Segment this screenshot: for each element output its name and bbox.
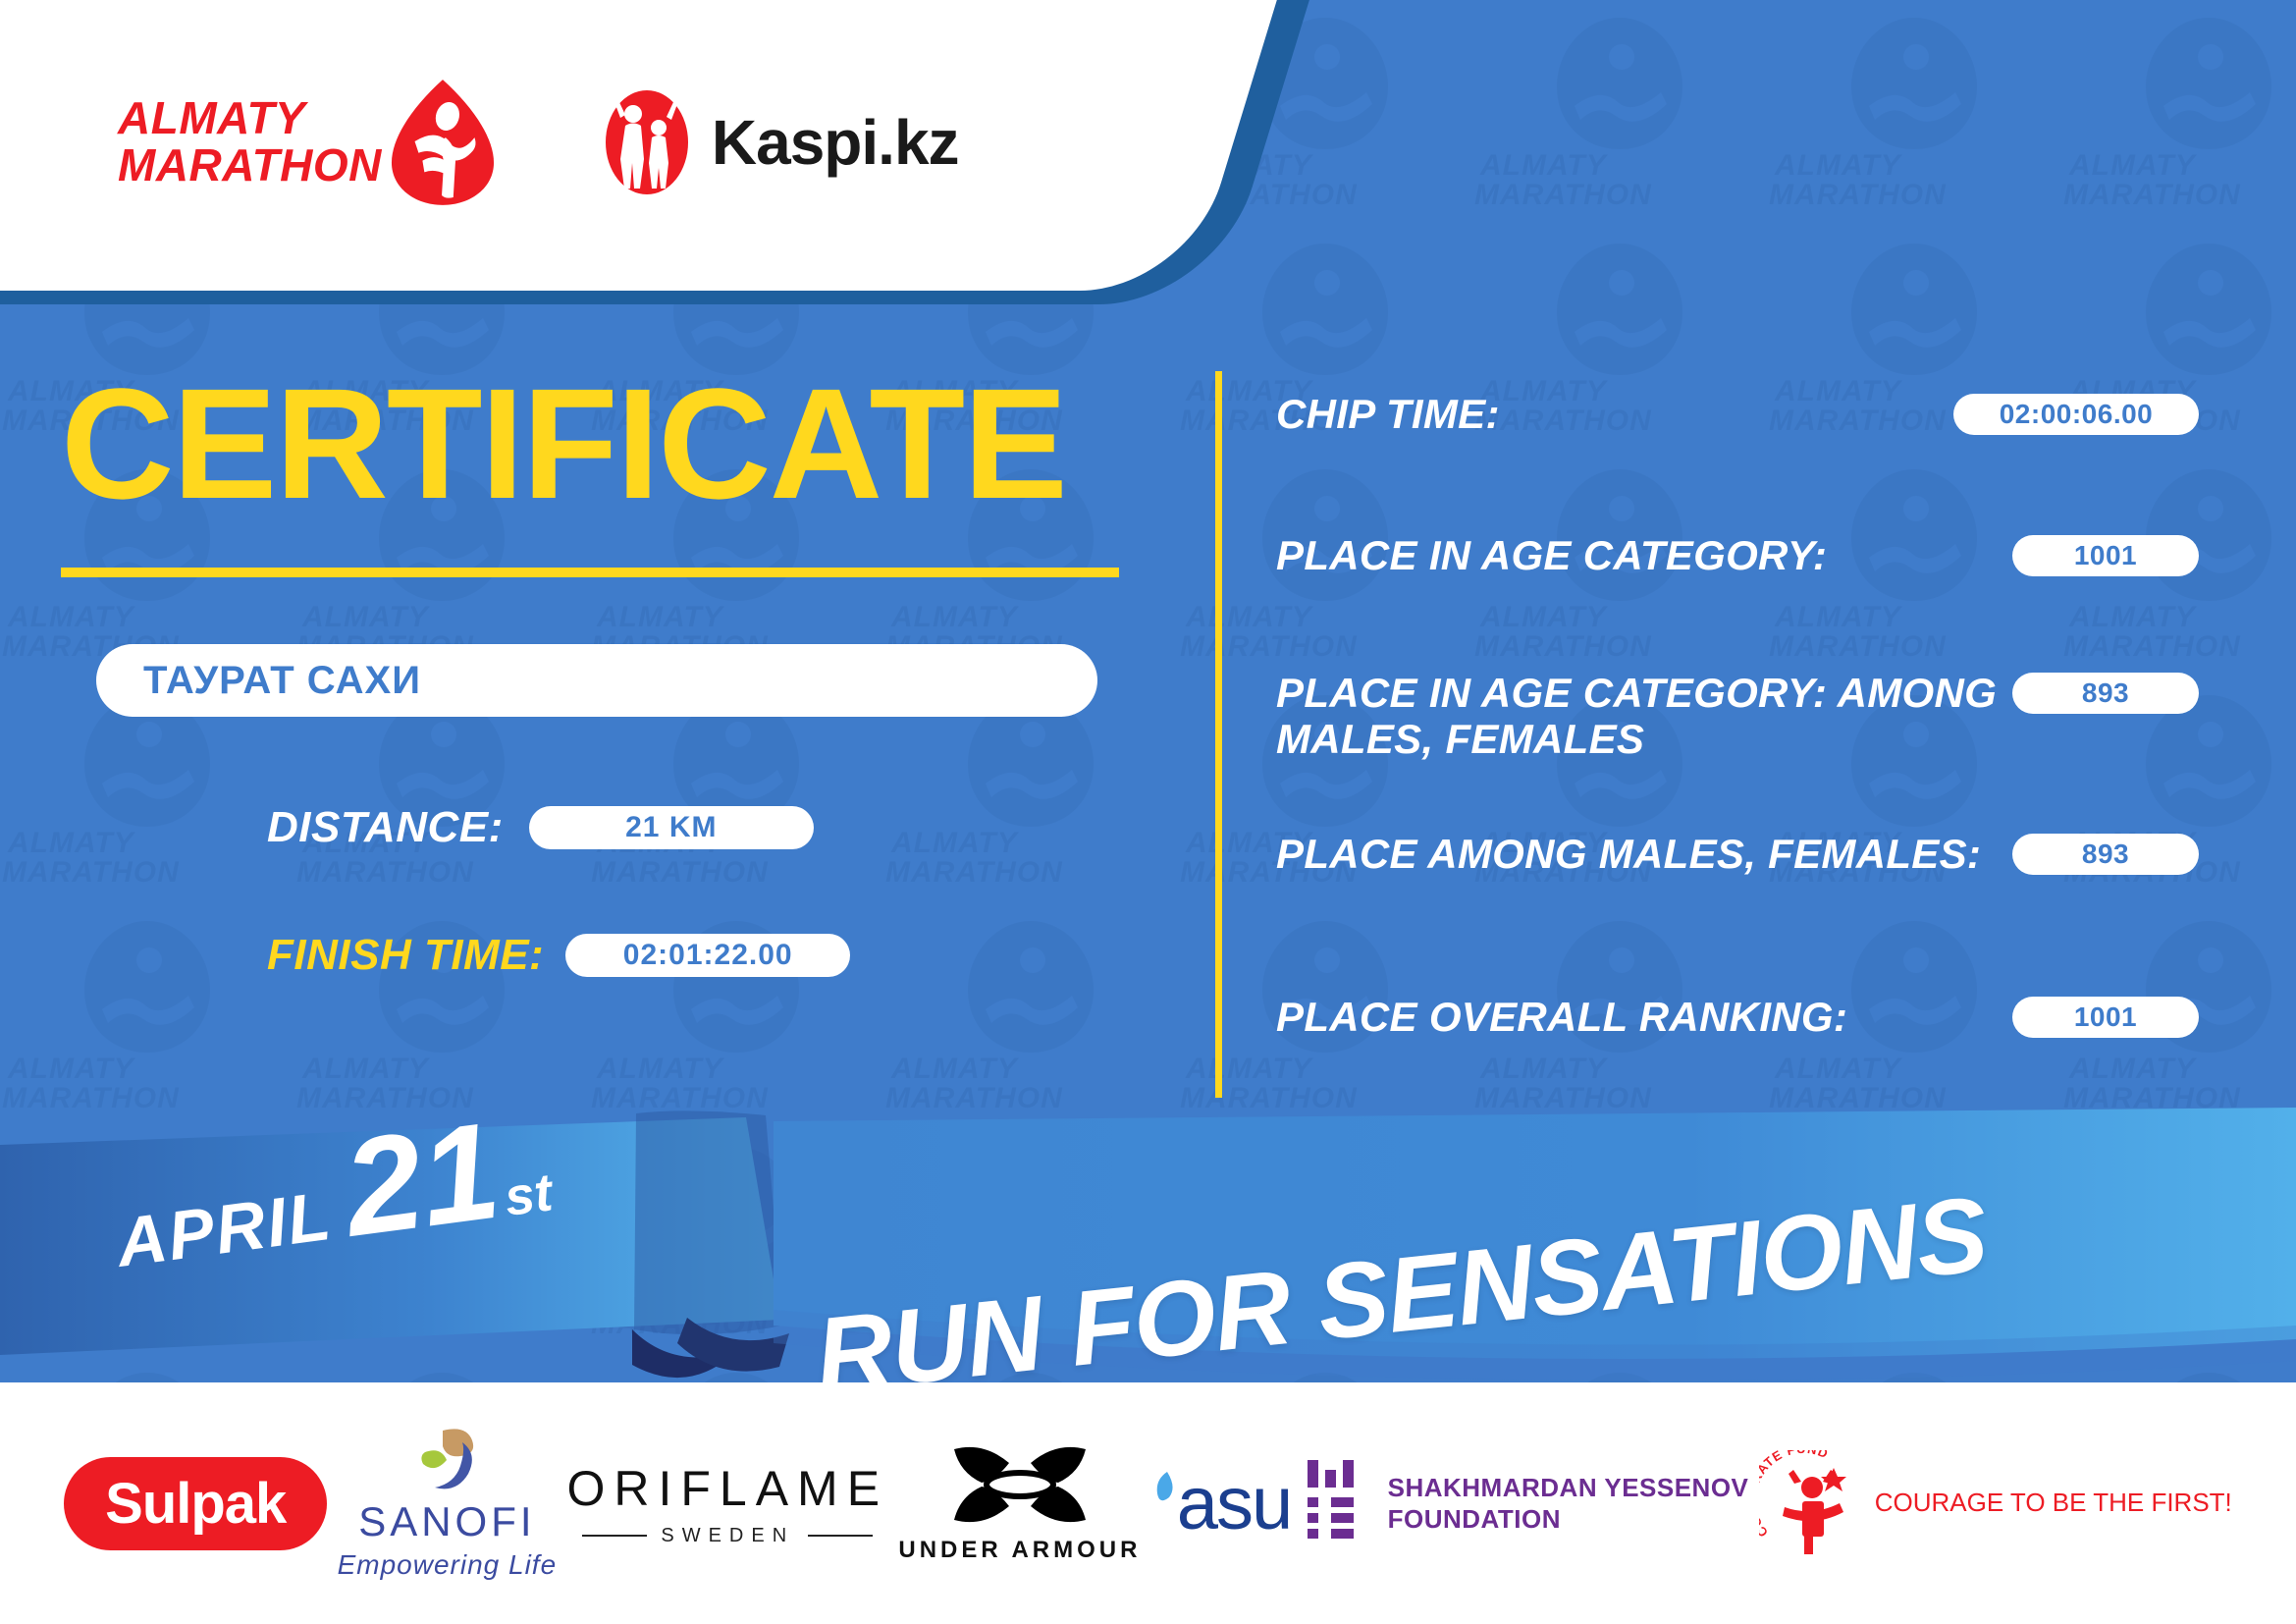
kaspi-people-icon (604, 88, 690, 196)
runner-drop-icon (390, 78, 496, 207)
yessenov-name: SHAKHMARDAN YESSENOV (1388, 1472, 1749, 1504)
place-age-category-gender-value: 893 (2082, 677, 2129, 709)
asu-logo: asu (1151, 1461, 1292, 1546)
place-age-category-gender-value-pill: 893 (2012, 673, 2199, 714)
place-age-category-value-pill: 1001 (2012, 535, 2199, 576)
sanofi-tagline: Empowering Life (338, 1549, 558, 1581)
sponsor-sanofi: SANOFI Empowering Life (338, 1427, 558, 1581)
sanofi-mark-icon (407, 1427, 486, 1489)
corporate-fund-logo: CORPORATE FUND COURAGE TO BE THE FIRST! (1759, 1450, 2232, 1556)
certificate-page: ALMATY MARATHON ALMATY MARATHON (0, 0, 2296, 1624)
place-overall-label: PLACE OVERALL RANKING: (1276, 994, 2012, 1040)
corporate-fund-tagline-block: COURAGE TO BE THE FIRST! (1875, 1488, 2232, 1518)
oriflame-rule-left (582, 1535, 647, 1537)
yessenov-wordmark-block: SHAKHMARDAN YESSENOV FOUNDATION (1388, 1472, 1749, 1536)
sponsor-corporate-fund: CORPORATE FUND COURAGE TO BE THE FIRST! (1759, 1450, 2232, 1556)
kaspi-wordmark: Kaspi.kz (712, 106, 959, 179)
finish-time-value-pill: 02:01:22.00 (565, 934, 850, 977)
almaty-marathon-logo: ALMATY MARATHON (118, 78, 496, 207)
finish-time-label: FINISH TIME: (267, 931, 544, 980)
distance-value-pill: 21 KM (529, 806, 814, 849)
place-age-category-value: 1001 (2074, 540, 2137, 571)
chip-time-row: CHIP TIME: 02:00:06.00 (1276, 391, 2199, 437)
corporate-fund-runner-icon: CORPORATE FUND (1759, 1450, 1861, 1556)
finish-time-value: 02:01:22.00 (623, 939, 793, 972)
place-age-category-gender-label: PLACE IN AGE CATEGORY: AMONG MALES, FEMA… (1276, 670, 2012, 762)
asu-wordmark: asu (1177, 1461, 1292, 1546)
finish-time-row: FINISH TIME: 02:01:22.00 (267, 931, 850, 980)
oriflame-wordmark: ORIFLAME (566, 1460, 888, 1517)
almaty-line: ALMATY (118, 95, 382, 142)
chip-time-label: CHIP TIME: (1276, 391, 1953, 437)
sponsor-under-armour: UNDER ARMOUR (898, 1443, 1141, 1564)
yessenov-tagline: FOUNDATION (1388, 1503, 1749, 1536)
title-underline (61, 568, 1119, 577)
almaty-marathon-wordmark: ALMATY MARATHON (118, 95, 382, 189)
event-day-suffix: st (501, 1162, 556, 1228)
chip-time-value-pill: 02:00:06.00 (1953, 394, 2199, 435)
place-among-gender-row: PLACE AMONG MALES, FEMALES: 893 (1276, 831, 2199, 877)
sponsors-bar: Sulpak SANOFI Empowering Life ORIFLAME S… (0, 1382, 2296, 1624)
place-overall-value-pill: 1001 (2012, 997, 2199, 1038)
asu-droplet-icon (1151, 1466, 1177, 1541)
sulpak-logo: Sulpak (64, 1457, 327, 1550)
distance-row: DISTANCE: 21 KM (267, 803, 814, 852)
sanofi-logo: SANOFI Empowering Life (338, 1427, 558, 1581)
place-age-category-gender-row: PLACE IN AGE CATEGORY: AMONG MALES, FEMA… (1276, 670, 2199, 762)
distance-value: 21 KM (625, 811, 717, 844)
distance-label: DISTANCE: (267, 803, 504, 852)
place-age-category-row: PLACE IN AGE CATEGORY: 1001 (1276, 532, 2199, 578)
under-armour-logo: UNDER ARMOUR (898, 1443, 1141, 1564)
corporate-fund-tagline: COURAGE TO BE THE FIRST! (1875, 1488, 2232, 1518)
event-day: 21 (338, 1109, 506, 1251)
place-among-gender-label: PLACE AMONG MALES, FEMALES: (1276, 831, 2012, 877)
chip-time-value: 02:00:06.00 (2000, 399, 2154, 430)
yessenov-mark-icon (1302, 1458, 1368, 1548)
column-divider (1215, 371, 1222, 1098)
place-age-category-label: PLACE IN AGE CATEGORY: (1276, 532, 2012, 578)
kaspi-logo: Kaspi.kz (604, 88, 959, 196)
place-overall-value: 1001 (2074, 1001, 2137, 1033)
oriflame-sweden-row: SWEDEN (566, 1525, 888, 1547)
yessenov-foundation-logo: SHAKHMARDAN YESSENOV FOUNDATION (1302, 1458, 1749, 1548)
place-among-gender-value: 893 (2082, 839, 2129, 870)
sponsor-sulpak: Sulpak (64, 1457, 327, 1550)
sponsor-yessenov-foundation: SHAKHMARDAN YESSENOV FOUNDATION (1302, 1458, 1749, 1548)
sanofi-wordmark: SANOFI (338, 1498, 558, 1545)
marathon-line: MARATHON (118, 142, 382, 189)
under-armour-mark-icon (946, 1443, 1094, 1526)
participant-name-value: ТАУРАТ САХИ (143, 659, 421, 703)
header-logos: ALMATY MARATHON (0, 0, 1227, 285)
oriflame-rule-right (808, 1535, 873, 1537)
page-title: CERTIFICATE (61, 365, 1066, 522)
under-armour-wordmark: UNDER ARMOUR (898, 1537, 1141, 1564)
participant-name-field: ТАУРАТ САХИ (96, 644, 1097, 717)
place-overall-row: PLACE OVERALL RANKING: 1001 (1276, 994, 2199, 1040)
oriflame-logo: ORIFLAME SWEDEN (566, 1460, 888, 1547)
sponsor-oriflame: ORIFLAME SWEDEN (566, 1460, 888, 1547)
sulpak-wordmark: Sulpak (105, 1472, 286, 1536)
place-among-gender-value-pill: 893 (2012, 834, 2199, 875)
oriflame-tagline: SWEDEN (661, 1525, 794, 1547)
sponsor-asu: asu (1151, 1461, 1292, 1546)
